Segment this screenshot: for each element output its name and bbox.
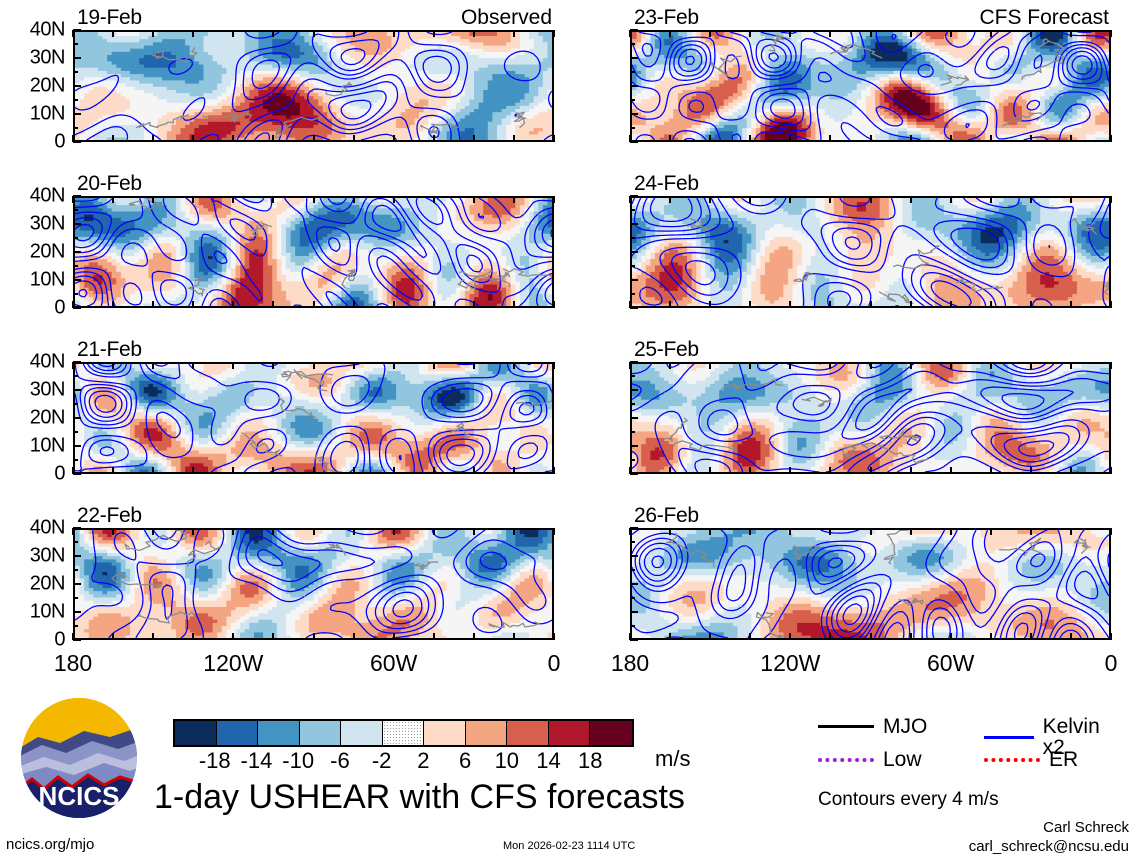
colorbar-tick-label: 18	[578, 748, 602, 774]
y-minor-tick	[630, 569, 635, 571]
panel-frame	[73, 30, 554, 142]
x-tick-mark	[990, 467, 992, 474]
colorbar-tick-label: -10	[282, 748, 314, 774]
y-minor-tick	[630, 597, 635, 599]
x-tick-mark	[232, 30, 234, 37]
x-tick-mark	[553, 633, 555, 640]
y-tick-mark	[630, 611, 638, 613]
y-tick-mark	[73, 113, 81, 115]
x-tick-mark	[870, 135, 872, 142]
map-panel-26-feb: 26-Feb180120W60W0	[630, 528, 1111, 640]
y-minor-tick	[630, 403, 635, 405]
x-tick-mark	[870, 528, 872, 535]
x-tick-mark	[789, 196, 791, 203]
panel-frame	[73, 528, 554, 640]
y-tick-mark	[73, 57, 81, 59]
x-tick-mark	[910, 30, 912, 37]
y-minor-tick	[73, 597, 78, 599]
x-axis-label: 120W	[203, 650, 263, 677]
colorbar	[173, 719, 634, 747]
panel-date-label: 25-Feb	[634, 338, 699, 362]
x-tick-mark	[513, 30, 515, 37]
x-tick-mark	[393, 528, 395, 535]
x-tick-mark	[829, 528, 831, 535]
legend-label-er: ER	[1049, 749, 1078, 770]
y-tick-mark	[630, 417, 638, 419]
x-tick-mark	[192, 135, 194, 142]
panel-date-label: 23-Feb	[634, 6, 699, 30]
x-tick-mark	[112, 30, 114, 37]
x-tick-mark	[152, 301, 154, 308]
y-tick-mark	[630, 583, 638, 585]
panel-field	[75, 364, 552, 472]
y-axis-label: 30N	[5, 213, 65, 236]
x-tick-mark	[313, 362, 315, 369]
x-tick-mark	[192, 30, 194, 37]
x-tick-mark	[553, 467, 555, 474]
x-tick-mark	[112, 633, 114, 640]
x-tick-mark	[749, 196, 751, 203]
x-tick-mark	[353, 467, 355, 474]
x-tick-mark	[272, 528, 274, 535]
panel-field	[632, 32, 1109, 140]
y-tick-mark	[630, 113, 638, 115]
x-tick-mark	[1110, 30, 1112, 37]
x-tick-mark	[473, 135, 475, 142]
y-tick-mark	[630, 279, 638, 281]
colorbar-tick-label: -2	[372, 748, 392, 774]
x-tick-mark	[629, 196, 631, 203]
colorbar-swatch	[175, 721, 217, 745]
y-tick-mark	[630, 195, 638, 197]
footer-author-name: Carl Schreck	[969, 818, 1129, 837]
colorbar-tick-label: 10	[495, 748, 519, 774]
colorbar-tick-label: 2	[417, 748, 429, 774]
x-tick-mark	[553, 196, 555, 203]
x-tick-mark	[1070, 301, 1072, 308]
x-tick-mark	[1110, 528, 1112, 535]
x-tick-mark	[232, 467, 234, 474]
x-tick-mark	[433, 362, 435, 369]
y-axis-label: 30N	[5, 47, 65, 70]
y-minor-tick	[73, 265, 78, 267]
x-tick-mark	[829, 196, 831, 203]
x-tick-mark	[1070, 633, 1072, 640]
x-tick-mark	[950, 135, 952, 142]
x-tick-mark	[990, 362, 992, 369]
y-axis-label: 30N	[5, 379, 65, 402]
panel-date-label: 19-Feb	[77, 6, 142, 30]
x-tick-mark	[353, 196, 355, 203]
x-tick-mark	[829, 467, 831, 474]
x-tick-mark	[433, 30, 435, 37]
x-tick-mark	[749, 135, 751, 142]
x-tick-mark	[473, 467, 475, 474]
footer-author-email[interactable]: carl_schreck@ncsu.edu	[969, 837, 1129, 856]
x-tick-mark	[870, 30, 872, 37]
x-tick-mark	[749, 301, 751, 308]
kelvin-line-swatch	[984, 736, 1034, 739]
x-tick-mark	[192, 467, 194, 474]
ncics-logo: NCICS	[18, 697, 140, 824]
panel-frame	[73, 196, 554, 308]
y-minor-tick	[73, 209, 78, 211]
panel-frame	[630, 362, 1111, 474]
x-tick-mark	[192, 301, 194, 308]
x-tick-mark	[990, 196, 992, 203]
x-axis-label: 180	[54, 650, 92, 677]
y-tick-mark	[630, 389, 638, 391]
x-tick-mark	[669, 196, 671, 203]
y-tick-mark	[630, 639, 638, 641]
footer-author: Carl Schreck carl_schreck@ncsu.edu	[969, 818, 1129, 856]
x-tick-mark	[232, 135, 234, 142]
x-tick-mark	[1030, 362, 1032, 369]
x-tick-mark	[112, 135, 114, 142]
x-tick-mark	[553, 362, 555, 369]
x-tick-mark	[990, 528, 992, 535]
colorbar-swatch	[549, 721, 591, 745]
y-minor-tick	[73, 43, 78, 45]
x-tick-mark	[433, 301, 435, 308]
x-tick-mark	[272, 301, 274, 308]
x-tick-mark	[473, 528, 475, 535]
x-tick-mark	[1110, 467, 1112, 474]
x-tick-mark	[950, 467, 952, 474]
x-tick-mark	[72, 135, 74, 142]
y-axis-label: 10N	[5, 435, 65, 458]
y-axis-label: 20N	[5, 241, 65, 264]
y-minor-tick	[73, 569, 78, 571]
x-tick-mark	[829, 301, 831, 308]
x-tick-mark	[553, 528, 555, 535]
x-tick-mark	[513, 633, 515, 640]
colorbar-tick-labels: -18-14-10-6-226101418	[173, 748, 632, 774]
x-tick-mark	[870, 362, 872, 369]
y-axis-label: 0	[5, 629, 65, 652]
x-tick-mark	[313, 467, 315, 474]
colorbar-swatch	[383, 721, 425, 745]
x-tick-mark	[1030, 196, 1032, 203]
x-tick-mark	[1110, 135, 1112, 142]
y-tick-mark	[73, 223, 81, 225]
map-panel-20-feb: 20-Feb40N30N20N10N0	[73, 196, 554, 308]
x-tick-mark	[629, 528, 631, 535]
x-tick-mark	[152, 528, 154, 535]
x-tick-mark	[1070, 467, 1072, 474]
y-tick-mark	[73, 583, 81, 585]
x-tick-mark	[990, 301, 992, 308]
y-tick-mark	[630, 361, 638, 363]
colorbar-tick-label: 6	[459, 748, 471, 774]
x-tick-mark	[272, 30, 274, 37]
x-tick-mark	[910, 633, 912, 640]
map-panel-24-feb: 24-Feb	[630, 196, 1111, 308]
x-tick-mark	[433, 633, 435, 640]
panel-field	[632, 530, 1109, 638]
x-tick-mark	[232, 633, 234, 640]
y-minor-tick	[630, 265, 635, 267]
y-tick-mark	[630, 473, 638, 475]
x-tick-mark	[829, 362, 831, 369]
y-tick-mark	[73, 251, 81, 253]
ncics-logo-graphic: NCICS	[18, 697, 140, 819]
x-tick-mark	[1070, 528, 1072, 535]
x-tick-mark	[72, 301, 74, 308]
x-tick-mark	[473, 30, 475, 37]
x-tick-mark	[473, 301, 475, 308]
x-tick-mark	[789, 30, 791, 37]
y-axis-label: 0	[5, 463, 65, 486]
x-axis-label: 0	[1105, 650, 1118, 677]
x-tick-mark	[789, 135, 791, 142]
x-tick-mark	[950, 301, 952, 308]
y-axis-label: 10N	[5, 601, 65, 624]
x-tick-mark	[112, 301, 114, 308]
panel-date-label: 20-Feb	[77, 172, 142, 196]
x-tick-mark	[313, 30, 315, 37]
legend-item-mjo: MJO	[818, 716, 927, 737]
x-tick-mark	[513, 362, 515, 369]
x-tick-mark	[232, 196, 234, 203]
y-minor-tick	[630, 43, 635, 45]
x-tick-mark	[152, 135, 154, 142]
y-axis-label: 10N	[5, 269, 65, 292]
y-minor-tick	[630, 625, 635, 627]
x-tick-mark	[1110, 301, 1112, 308]
x-tick-mark	[72, 467, 74, 474]
x-tick-mark	[990, 30, 992, 37]
x-axis-label: 0	[548, 650, 561, 677]
colorbar-swatch	[466, 721, 508, 745]
x-tick-mark	[1030, 135, 1032, 142]
x-tick-mark	[473, 633, 475, 640]
x-tick-mark	[629, 30, 631, 37]
y-axis-label: 20N	[5, 407, 65, 430]
y-tick-mark	[73, 445, 81, 447]
x-tick-mark	[353, 633, 355, 640]
colorbar-swatch	[507, 721, 549, 745]
x-tick-mark	[272, 467, 274, 474]
y-minor-tick	[630, 71, 635, 73]
panel-frame	[630, 30, 1111, 142]
column-heading-observed: Observed	[461, 6, 552, 30]
y-minor-tick	[73, 237, 78, 239]
x-tick-mark	[950, 196, 952, 203]
x-tick-mark	[990, 633, 992, 640]
y-minor-tick	[73, 375, 78, 377]
colorbar-tick-label: -6	[330, 748, 350, 774]
x-tick-mark	[513, 467, 515, 474]
y-minor-tick	[73, 293, 78, 295]
x-tick-mark	[393, 301, 395, 308]
y-axis-label: 30N	[5, 545, 65, 568]
map-panel-19-feb: 19-FebObserved40N30N20N10N0	[73, 30, 554, 142]
x-tick-mark	[192, 196, 194, 203]
x-tick-mark	[709, 196, 711, 203]
panel-field	[75, 198, 552, 306]
x-axis-label: 180	[611, 650, 649, 677]
x-tick-mark	[1070, 30, 1072, 37]
x-axis-label: 120W	[760, 650, 820, 677]
colorbar-swatch	[341, 721, 383, 745]
x-tick-mark	[1070, 362, 1072, 369]
x-tick-mark	[232, 301, 234, 308]
x-tick-mark	[709, 528, 711, 535]
x-tick-mark	[910, 301, 912, 308]
x-tick-mark	[1110, 633, 1112, 640]
y-minor-tick	[630, 459, 635, 461]
contour-legend: MJO Kelvin x2 Low ER	[818, 716, 1118, 780]
column-heading-cfs-forecast: CFS Forecast	[979, 6, 1109, 30]
y-tick-mark	[73, 29, 81, 31]
y-axis-label: 40N	[5, 517, 65, 540]
x-tick-mark	[313, 528, 315, 535]
x-tick-mark	[629, 135, 631, 142]
panel-field	[75, 32, 552, 140]
figure-title: 1-day USHEAR with CFS forecasts	[154, 778, 685, 817]
y-tick-mark	[73, 85, 81, 87]
x-tick-mark	[393, 467, 395, 474]
legend-label-mjo: MJO	[883, 716, 927, 737]
x-tick-mark	[393, 135, 395, 142]
x-axis-label: 60W	[927, 650, 974, 677]
x-tick-mark	[1070, 196, 1072, 203]
y-axis-label: 40N	[5, 185, 65, 208]
x-tick-mark	[353, 30, 355, 37]
y-tick-mark	[73, 611, 81, 613]
y-tick-mark	[630, 445, 638, 447]
y-tick-mark	[630, 223, 638, 225]
x-tick-mark	[272, 135, 274, 142]
x-tick-mark	[313, 301, 315, 308]
x-tick-mark	[910, 135, 912, 142]
x-tick-mark	[272, 362, 274, 369]
y-axis-label: 40N	[5, 351, 65, 374]
panel-date-label: 24-Feb	[634, 172, 699, 196]
x-tick-mark	[192, 528, 194, 535]
colorbar-swatch	[217, 721, 259, 745]
x-tick-mark	[829, 30, 831, 37]
x-tick-mark	[629, 301, 631, 308]
x-tick-mark	[709, 633, 711, 640]
x-tick-mark	[870, 633, 872, 640]
y-tick-mark	[73, 141, 81, 143]
x-tick-mark	[950, 633, 952, 640]
x-tick-mark	[393, 196, 395, 203]
colorbar-swatch	[424, 721, 466, 745]
x-tick-mark	[870, 196, 872, 203]
x-tick-mark	[910, 196, 912, 203]
x-tick-mark	[353, 135, 355, 142]
y-minor-tick	[630, 541, 635, 543]
x-tick-mark	[629, 633, 631, 640]
contour-interval-note: Contours every 4 m/s	[818, 789, 999, 811]
x-tick-mark	[152, 30, 154, 37]
x-tick-mark	[870, 467, 872, 474]
x-tick-mark	[272, 196, 274, 203]
x-tick-mark	[433, 196, 435, 203]
x-tick-mark	[709, 467, 711, 474]
x-tick-mark	[192, 362, 194, 369]
x-axis-labels: 180120W60W0	[630, 650, 1111, 676]
y-minor-tick	[630, 375, 635, 377]
x-tick-mark	[1030, 528, 1032, 535]
x-tick-mark	[393, 30, 395, 37]
x-tick-mark	[910, 528, 912, 535]
colorbar-tick-label: -18	[199, 748, 231, 774]
y-tick-mark	[73, 307, 81, 309]
y-axis-label: 40N	[5, 19, 65, 42]
y-minor-tick	[73, 541, 78, 543]
x-tick-mark	[870, 301, 872, 308]
x-tick-mark	[72, 528, 74, 535]
panel-field	[632, 364, 1109, 472]
y-tick-mark	[630, 555, 638, 557]
x-tick-mark	[669, 362, 671, 369]
colorbar-tick-label: -14	[241, 748, 273, 774]
x-tick-mark	[473, 362, 475, 369]
y-tick-mark	[630, 57, 638, 59]
x-tick-mark	[112, 196, 114, 203]
footer-site-link[interactable]: ncics.org/mjo	[6, 836, 94, 853]
panel-field	[75, 530, 552, 638]
x-tick-mark	[950, 362, 952, 369]
ncics-logo-text: NCICS	[39, 781, 120, 811]
x-tick-mark	[789, 528, 791, 535]
panel-field	[632, 198, 1109, 306]
x-tick-mark	[1030, 633, 1032, 640]
y-minor-tick	[73, 625, 78, 627]
x-tick-mark	[749, 633, 751, 640]
map-panel-25-feb: 25-Feb	[630, 362, 1111, 474]
y-minor-tick	[630, 237, 635, 239]
y-tick-mark	[630, 141, 638, 143]
y-tick-mark	[630, 527, 638, 529]
x-tick-mark	[709, 362, 711, 369]
x-tick-mark	[152, 196, 154, 203]
y-axis-label: 0	[5, 131, 65, 154]
legend-item-low: Low	[818, 749, 922, 770]
map-panel-23-feb: 23-FebCFS Forecast	[630, 30, 1111, 142]
y-minor-tick	[630, 209, 635, 211]
x-tick-mark	[669, 135, 671, 142]
colorbar-units-label: m/s	[655, 746, 690, 772]
x-tick-mark	[629, 362, 631, 369]
y-tick-mark	[73, 527, 81, 529]
panel-date-label: 22-Feb	[77, 504, 142, 528]
y-tick-mark	[73, 473, 81, 475]
x-tick-mark	[232, 528, 234, 535]
y-tick-mark	[73, 389, 81, 391]
x-tick-mark	[950, 528, 952, 535]
x-tick-mark	[393, 362, 395, 369]
x-tick-mark	[1030, 30, 1032, 37]
x-tick-mark	[313, 633, 315, 640]
x-tick-mark	[910, 467, 912, 474]
x-tick-mark	[749, 467, 751, 474]
panel-frame	[630, 196, 1111, 308]
colorbar-swatch	[258, 721, 300, 745]
mjo-line-swatch	[818, 725, 874, 728]
y-axis-label: 20N	[5, 75, 65, 98]
x-tick-mark	[232, 362, 234, 369]
x-tick-mark	[72, 633, 74, 640]
panel-date-label: 26-Feb	[634, 504, 699, 528]
x-tick-mark	[152, 362, 154, 369]
y-minor-tick	[73, 99, 78, 101]
colorbar-swatch	[590, 721, 632, 745]
